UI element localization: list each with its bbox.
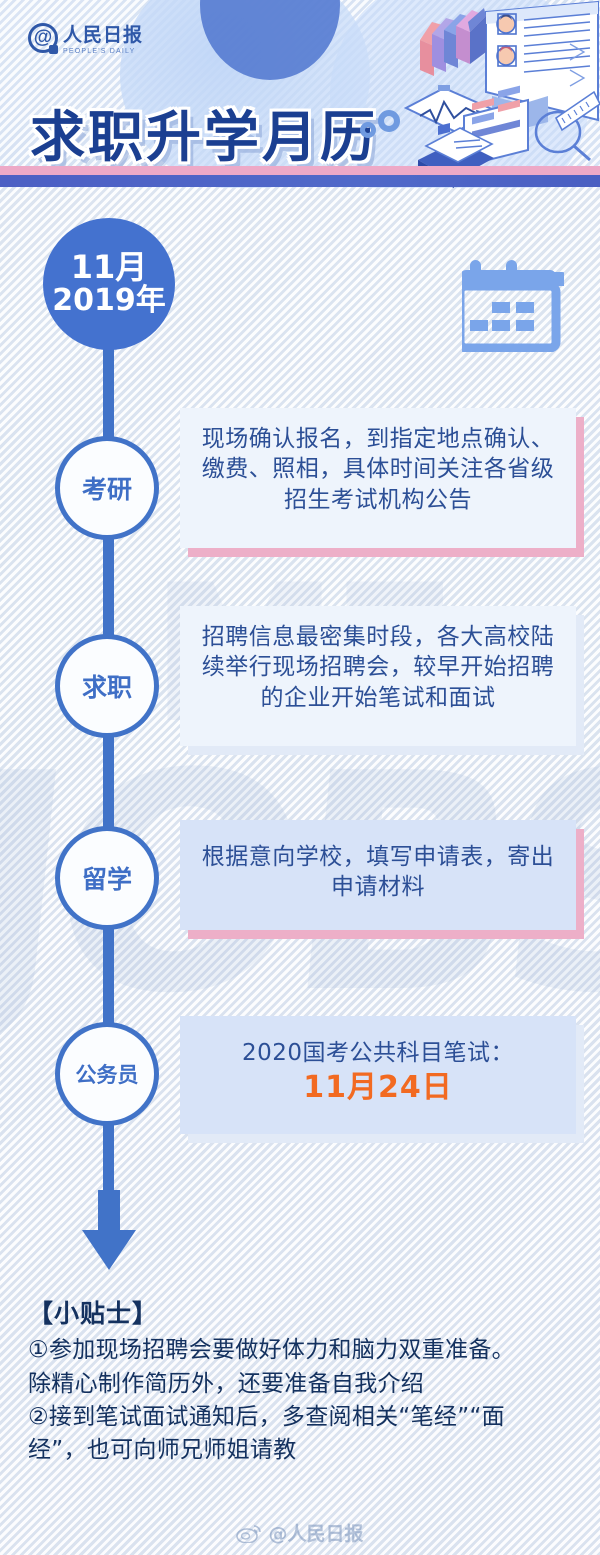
tips-line-3: ②接到笔试面试通知后，多查阅相关“笔经”“面 (28, 1401, 580, 1434)
timeline-arrow-icon (74, 1190, 144, 1270)
gear-icon-large (378, 110, 400, 132)
timeline-node-label: 留学 (82, 860, 132, 896)
logo-name-en: PEOPLE'S DAILY (63, 48, 143, 55)
month-badge-month: 11月 (71, 251, 148, 285)
page-title: 求职升学月历 (30, 92, 378, 172)
timeline-card-qiuzhi: 招聘信息最密集时段，各大高校陆续举行现场招聘会，较早开始招聘的企业开始笔试和面试 (180, 606, 576, 746)
header-banner: @ 人民日报 PEOPLE'S DAILY 求职升学月历 (0, 0, 600, 188)
timeline-node-qiuzhi[interactable]: 求职 (55, 634, 159, 738)
timeline-card-text: 根据意向学校，填写申请表，寄出申请材料 (202, 844, 555, 900)
infographic-page: JOBS ME (0, 0, 600, 1555)
weibo-icon (236, 1523, 262, 1543)
logo-name-cn: 人民日报 (63, 20, 143, 47)
tips-line-4: 经”，也可向师兄师姐请教 (28, 1434, 580, 1467)
gear-icon-small (360, 122, 376, 138)
footer-credit: @人民日报 (0, 1510, 600, 1555)
timeline-card-text: 招聘信息最密集时段，各大高校陆续举行现场招聘会，较早开始招聘的企业开始笔试和面试 (202, 624, 555, 711)
month-badge: 11月 2019年 (43, 218, 175, 350)
tips-line-1: ①参加现场招聘会要做好体力和脑力双重准备。 (28, 1334, 580, 1367)
footer-handle: @人民日报 (268, 1519, 363, 1546)
timeline-card-liuxue: 根据意向学校，填写申请表，寄出申请材料 (180, 820, 576, 930)
divider-bar-pink (0, 166, 600, 175)
desk-illustration (398, 0, 600, 188)
divider-bar-blue (0, 175, 600, 187)
exam-date-highlight: 11月24日 (194, 1068, 562, 1108)
brand-logo: @ 人民日报 PEOPLE'S DAILY (28, 20, 143, 55)
timeline-node-label: 考研 (82, 470, 132, 506)
calendar-icon (462, 256, 564, 352)
timeline-node-label: 求职 (82, 668, 132, 704)
timeline-node-liuxue[interactable]: 留学 (55, 826, 159, 930)
tips-section: 【小贴士】 ①参加现场招聘会要做好体力和脑力双重准备。 除精心制作简历外，还要准… (28, 1296, 580, 1468)
timeline-card-text: 现场确认报名，到指定地点确认、缴费、照相，具体时间关注各省级招生考试机构公告 (202, 426, 555, 513)
timeline-card-text: 2020国考公共科目笔试： (242, 1040, 514, 1066)
at-sign-icon: @ (28, 23, 58, 53)
timeline-node-kaoyan[interactable]: 考研 (55, 436, 159, 540)
month-badge-year: 2019年 (52, 285, 166, 317)
timeline-row-liuxue: 留学 根据意向学校，填写申请表，寄出申请材料 (0, 826, 600, 976)
timeline-row-kaoyan: 考研 现场确认报名，到指定地点确认、缴费、照相，具体时间关注各省级招生考试机构公… (0, 436, 600, 586)
timeline-row-qiuzhi: 求职 招聘信息最密集时段，各大高校陆续举行现场招聘会，较早开始招聘的企业开始笔试… (0, 634, 600, 784)
timeline-card-kaoyan: 现场确认报名，到指定地点确认、缴费、照相，具体时间关注各省级招生考试机构公告 (180, 408, 576, 548)
tips-heading: 【小贴士】 (28, 1296, 580, 1332)
timeline-node-label: 公务员 (76, 1059, 139, 1089)
timeline-row-gongwuyuan: 公务员 2020国考公共科目笔试： 11月24日 (0, 1022, 600, 1172)
tips-line-2: 除精心制作简历外，还要准备自我介绍 (28, 1368, 580, 1401)
timeline-node-gongwuyuan[interactable]: 公务员 (55, 1022, 159, 1126)
timeline-card-gongwuyuan: 2020国考公共科目笔试： 11月24日 (180, 1016, 576, 1134)
books-icon (420, 8, 486, 76)
